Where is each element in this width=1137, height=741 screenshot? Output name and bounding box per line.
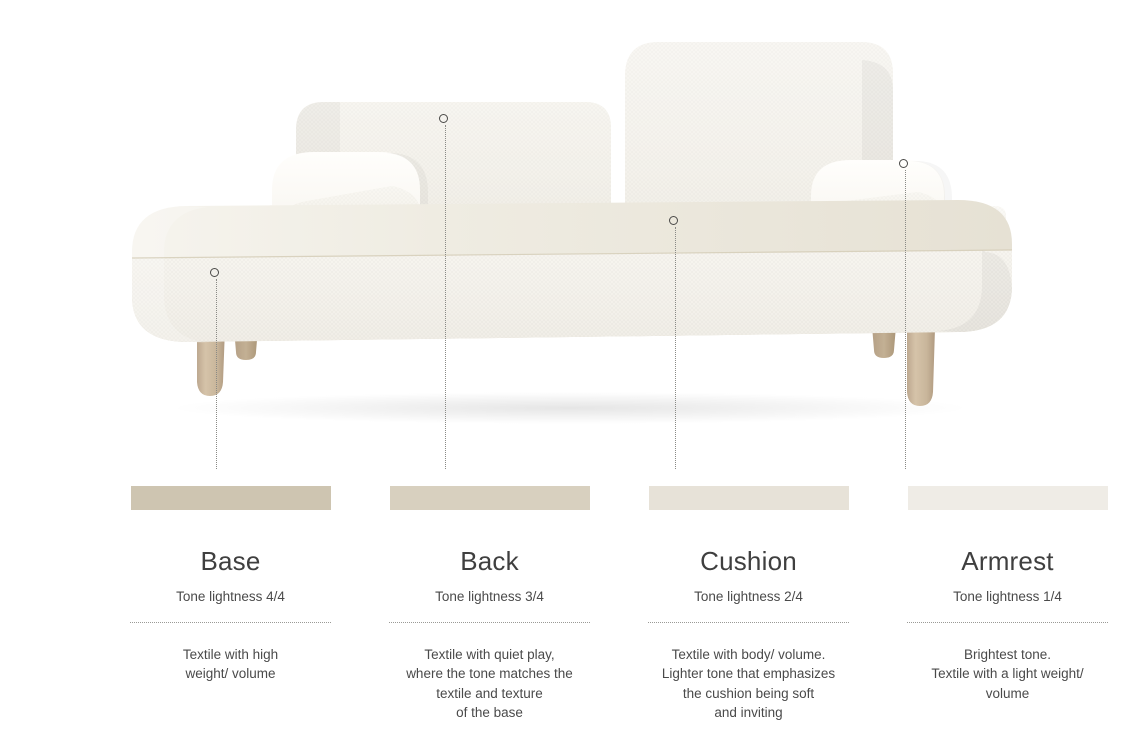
legend-description-armrest: Brightest tone. Textile with a light wei… — [931, 645, 1083, 704]
legend-description-base: Textile with high weight/ volume — [183, 645, 278, 684]
callout-dot-base — [210, 268, 219, 277]
swatch-armrest — [908, 486, 1108, 510]
legend-title-armrest: Armrest — [961, 548, 1053, 574]
legend-title-back: Back — [460, 548, 519, 574]
sofa-base — [132, 200, 1012, 343]
legend-divider-back — [389, 622, 590, 623]
sofa-illustration — [0, 0, 1137, 470]
floor-shadow — [170, 392, 970, 424]
legend-subtitle-base: Tone lightness 4/4 — [176, 590, 285, 604]
callout-leader-armrest — [905, 170, 906, 470]
swatch-cushion — [649, 486, 849, 510]
callout-leader-cushion — [675, 227, 676, 470]
callout-dot-armrest — [899, 159, 908, 168]
legend-divider-base — [130, 622, 331, 623]
legend-column-base[interactable]: Base Tone lightness 4/4 Textile with hig… — [116, 470, 345, 741]
legend-subtitle-cushion: Tone lightness 2/4 — [694, 590, 803, 604]
legend-column-cushion[interactable]: Cushion Tone lightness 2/4 Textile with … — [634, 470, 863, 741]
legend-title-base: Base — [200, 548, 260, 574]
swatch-back — [390, 486, 590, 510]
legend-divider-armrest — [907, 622, 1108, 623]
legend-left-spacer — [0, 470, 101, 741]
callout-leader-base — [216, 279, 217, 470]
legend-divider-cushion — [648, 622, 849, 623]
callout-leader-back — [445, 125, 446, 470]
legend-subtitle-back: Tone lightness 3/4 — [435, 590, 544, 604]
tone-legend: Base Tone lightness 4/4 Textile with hig… — [0, 470, 1137, 741]
legend-subtitle-armrest: Tone lightness 1/4 — [953, 590, 1062, 604]
legend-column-armrest[interactable]: Armrest Tone lightness 1/4 Brightest ton… — [893, 470, 1122, 741]
legend-title-cushion: Cushion — [700, 548, 797, 574]
swatch-base — [131, 486, 331, 510]
legend-description-cushion: Textile with body/ volume. Lighter tone … — [662, 645, 835, 723]
callout-dot-back — [439, 114, 448, 123]
product-image-stage — [0, 0, 1137, 470]
legend-column-back[interactable]: Back Tone lightness 3/4 Textile with qui… — [375, 470, 604, 741]
legend-description-back: Textile with quiet play, where the tone … — [406, 645, 573, 723]
callout-dot-cushion — [669, 216, 678, 225]
